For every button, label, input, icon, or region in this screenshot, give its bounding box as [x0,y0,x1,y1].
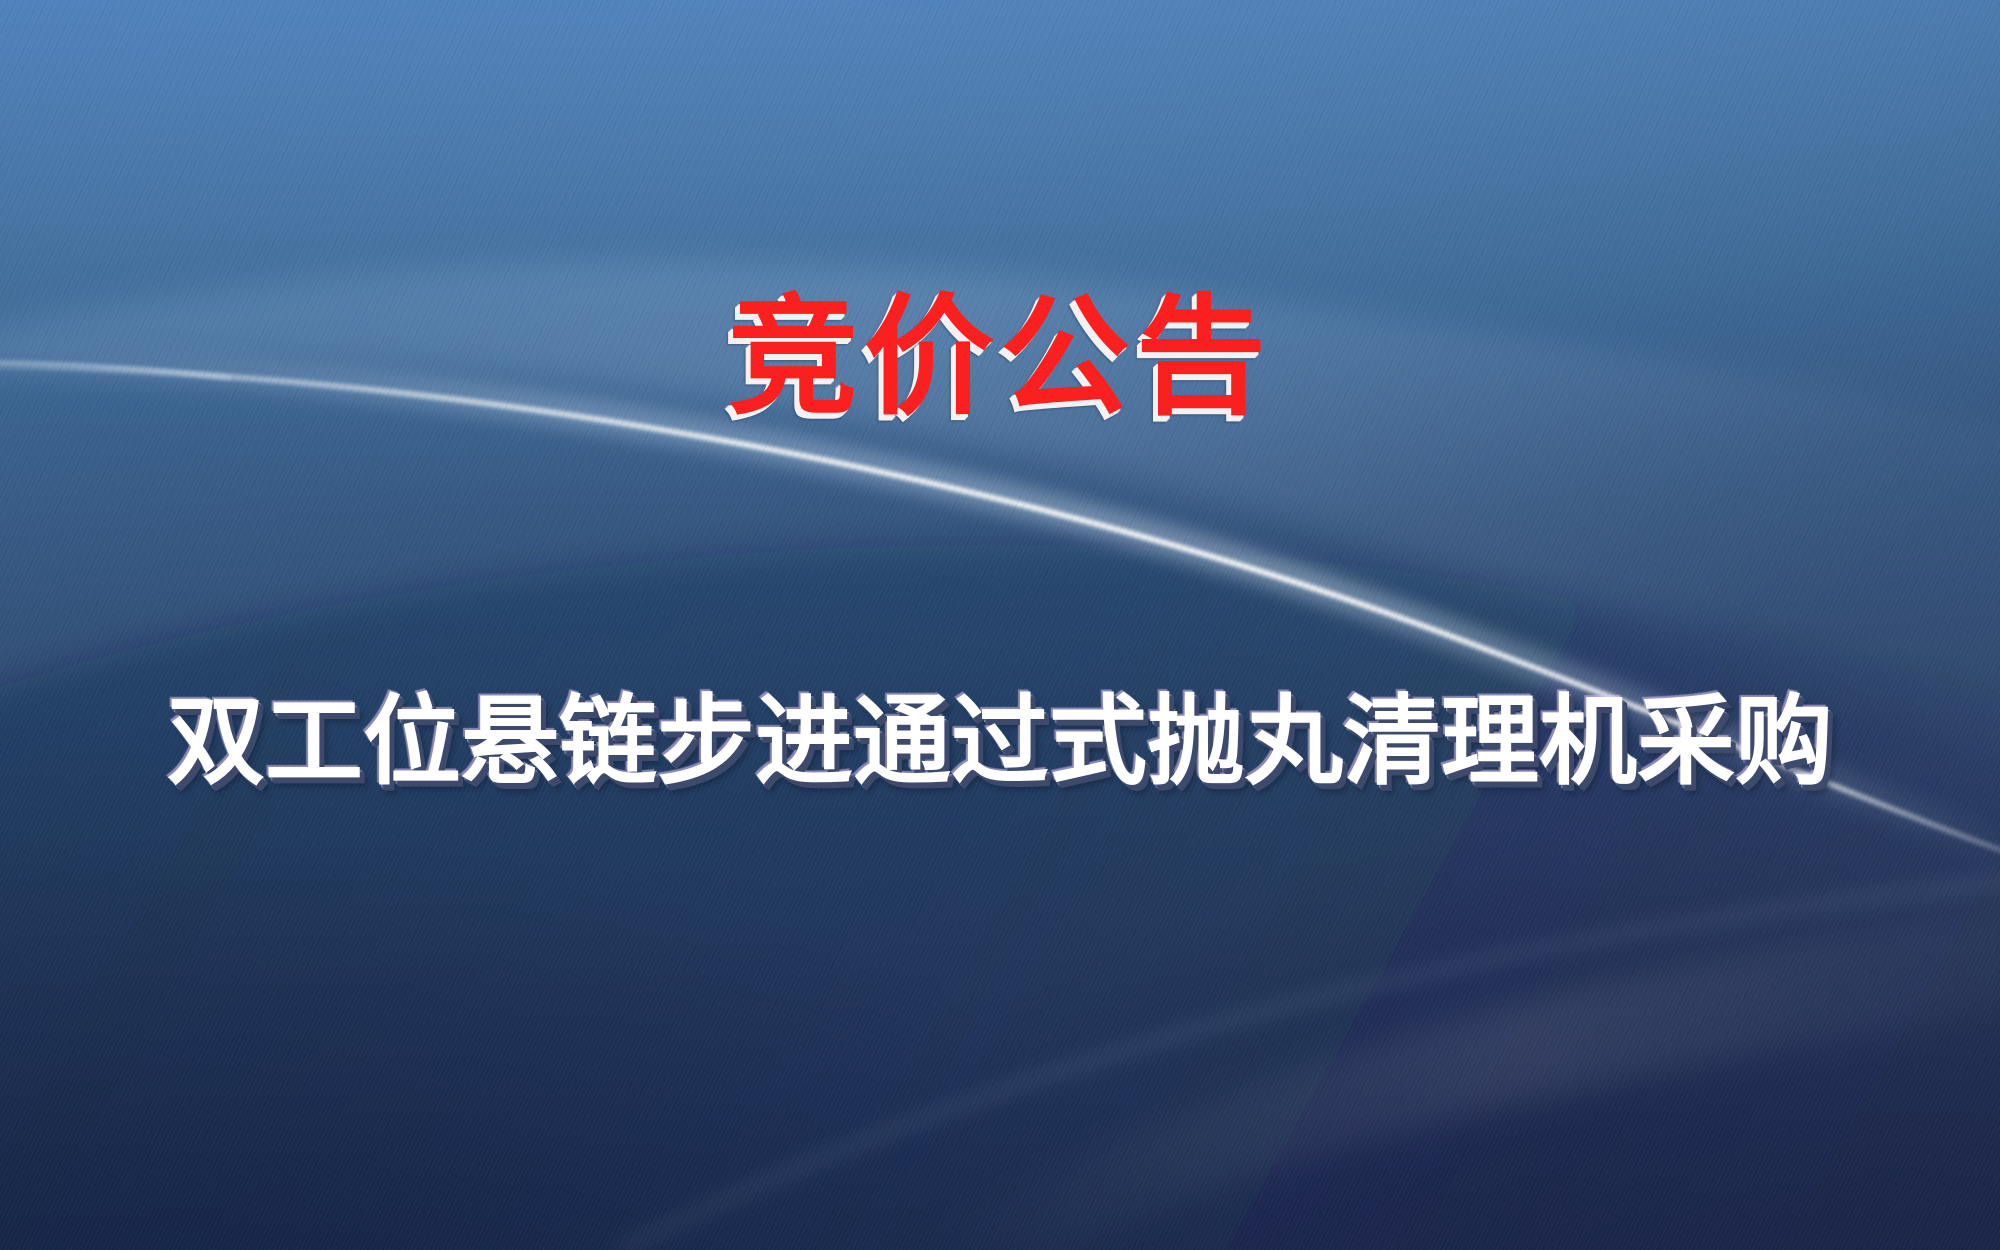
slide-content: 竞价公告 双工位悬链步进通过式抛丸清理机采购 [0,0,2000,1250]
page-title: 竞价公告 [0,292,2000,422]
page-subtitle: 双工位悬链步进通过式抛丸清理机采购 [0,692,2000,790]
announcement-slide: 竞价公告 双工位悬链步进通过式抛丸清理机采购 [0,0,2000,1250]
